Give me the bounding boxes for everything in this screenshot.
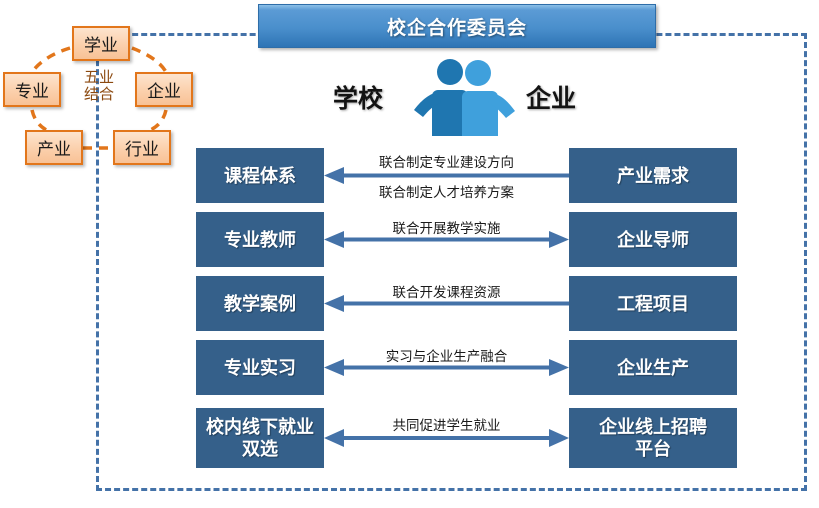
- relation-row: 校内线下就业双选 共同促进学生就业 企业线上招聘平台: [196, 408, 737, 468]
- cluster-node-label: 行业: [125, 135, 159, 160]
- cluster-node-qiye[interactable]: 企业: [135, 72, 193, 107]
- party-label-company: 企业: [526, 79, 576, 115]
- diagram-canvas: 校企合作委员会 学业 企业 专业 产业 行业 五业: [0, 0, 819, 508]
- cluster-node-xueye[interactable]: 学业: [72, 26, 130, 61]
- row-label-top: 共同促进学生就业: [324, 414, 569, 434]
- row-connector: 联合开发课程资源: [324, 276, 569, 331]
- row-left-label: 专业实习: [224, 357, 296, 379]
- row-right-label: 企业线上招聘平台: [599, 416, 707, 460]
- cluster-node-label: 产业: [37, 135, 71, 160]
- row-right-box[interactable]: 企业导师: [569, 212, 737, 267]
- cluster-node-label: 企业: [147, 77, 181, 102]
- row-connector: 联合制定专业建设方向 联合制定人才培养方案: [324, 148, 569, 203]
- row-label-bottom: 联合制定人才培养方案: [324, 181, 569, 201]
- row-left-label: 教学案例: [224, 293, 296, 315]
- row-connector: 实习与企业生产融合: [324, 340, 569, 395]
- cluster-center-line2: 结合: [66, 87, 132, 104]
- row-label-top: 联合开发课程资源: [324, 281, 569, 301]
- row-connector: 共同促进学生就业: [324, 408, 569, 468]
- row-right-box[interactable]: 产业需求: [569, 148, 737, 203]
- party-label-school: 学校: [333, 79, 383, 115]
- relation-row: 教学案例 联合开发课程资源 工程项目: [196, 276, 737, 331]
- page-title: 校企合作委员会: [387, 13, 527, 40]
- row-right-label: 企业生产: [617, 357, 689, 379]
- row-label-top: 联合开展教学实施: [324, 217, 569, 237]
- row-left-box[interactable]: 课程体系: [196, 148, 324, 203]
- row-right-box[interactable]: 企业生产: [569, 340, 737, 395]
- row-label-top: 实习与企业生产融合: [324, 345, 569, 365]
- row-right-label: 工程项目: [617, 293, 689, 315]
- cluster-node-zhuanye[interactable]: 专业: [3, 72, 61, 107]
- cluster-node-label: 专业: [15, 77, 49, 102]
- row-left-box[interactable]: 专业实习: [196, 340, 324, 395]
- row-left-label: 课程体系: [224, 165, 296, 187]
- two-people-icon: [412, 58, 516, 136]
- row-label-top: 联合制定专业建设方向: [324, 151, 569, 171]
- row-connector: 联合开展教学实施: [324, 212, 569, 267]
- relation-row: 课程体系 联合制定专业建设方向 联合制定人才培养方案 产业需求: [196, 148, 737, 203]
- row-left-label: 校内线下就业双选: [206, 416, 314, 460]
- row-left-box[interactable]: 专业教师: [196, 212, 324, 267]
- relation-row: 专业教师 联合开展教学实施 企业导师: [196, 212, 737, 267]
- cluster-center-line1: 五业: [66, 70, 132, 87]
- row-right-label: 企业导师: [617, 229, 689, 251]
- row-left-label: 专业教师: [224, 229, 296, 251]
- cluster-node-hangye[interactable]: 行业: [113, 130, 171, 165]
- cluster-node-chanye[interactable]: 产业: [25, 130, 83, 165]
- relation-row: 专业实习 实习与企业生产融合 企业生产: [196, 340, 737, 395]
- row-right-label: 产业需求: [617, 165, 689, 187]
- row-right-box[interactable]: 企业线上招聘平台: [569, 408, 737, 468]
- committee-header-banner: 校企合作委员会: [258, 4, 656, 48]
- five-element-cluster: 学业 企业 专业 产业 行业 五业 结合: [0, 0, 200, 180]
- row-left-box[interactable]: 校内线下就业双选: [196, 408, 324, 468]
- cluster-center-caption: 五业 结合: [66, 70, 132, 104]
- cluster-node-label: 学业: [84, 31, 118, 56]
- row-left-box[interactable]: 教学案例: [196, 276, 324, 331]
- row-right-box[interactable]: 工程项目: [569, 276, 737, 331]
